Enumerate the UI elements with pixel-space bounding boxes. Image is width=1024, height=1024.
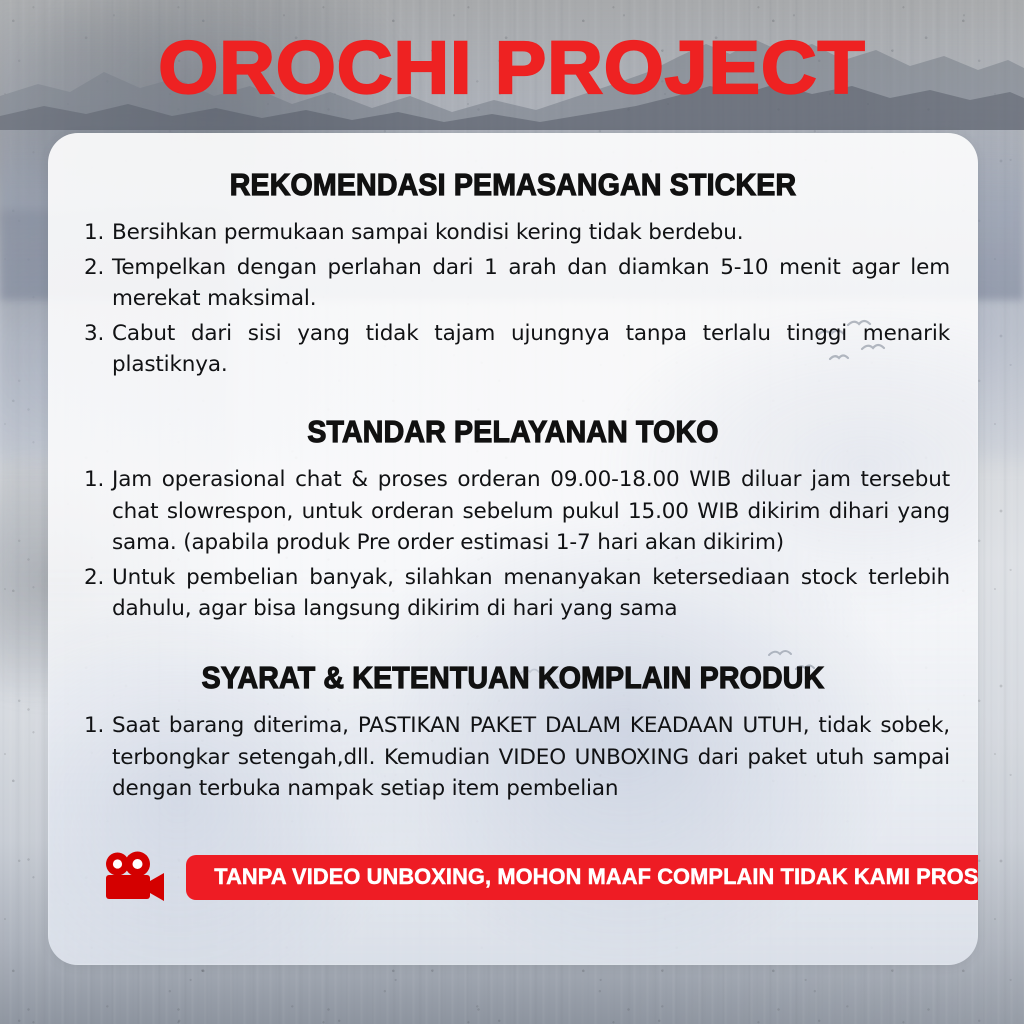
list-item: Cabut dari sisi yang tidak tajam ujungny… [76, 318, 950, 381]
section-gap [76, 384, 950, 414]
section-list: Saat barang diterima, PASTIKAN PAKET DAL… [76, 710, 950, 805]
section-standar-pelayanan-toko: STANDAR PELAYANAN TOKO Jam operasional c… [76, 414, 950, 625]
banner-text: TANPA VIDEO UNBOXING, MOHON MAAF COMPLAI… [214, 864, 978, 890]
section-heading: SYARAT & KETENTUAN KOMPLAIN PRODUK [111, 660, 915, 696]
list-item: Saat barang diterima, PASTIKAN PAKET DAL… [76, 710, 950, 805]
banner-pill: TANPA VIDEO UNBOXING, MOHON MAAF COMPLAI… [186, 855, 978, 900]
info-card: REKOMENDASI PEMASANGAN STICKER Bersihkan… [48, 133, 978, 965]
page-title: OROCHI PROJECT [158, 34, 865, 102]
section-heading: STANDAR PELAYANAN TOKO [111, 414, 915, 450]
list-item: Untuk pembelian banyak, silahkan menanya… [76, 562, 950, 625]
list-item: Jam operasional chat & proses orderan 09… [76, 464, 950, 559]
section-gap [76, 628, 950, 660]
section-list: Jam operasional chat & proses orderan 09… [76, 464, 950, 625]
card-content: REKOMENDASI PEMASANGAN STICKER Bersihkan… [48, 133, 978, 805]
section-list: Bersihkan permukaan sampai kondisi kerin… [76, 217, 950, 381]
page-title-wrapper: OROCHI PROJECT [0, 34, 1024, 102]
section-rekomendasi-pemasangan-sticker: REKOMENDASI PEMASANGAN STICKER Bersihkan… [76, 167, 950, 381]
list-item: Tempelkan dengan perlahan dari 1 arah da… [76, 252, 950, 315]
unboxing-warning-banner: TANPA VIDEO UNBOXING, MOHON MAAF COMPLAI… [104, 851, 928, 903]
list-item: Bersihkan permukaan sampai kondisi kerin… [76, 217, 950, 249]
section-heading: REKOMENDASI PEMASANGAN STICKER [111, 167, 915, 203]
video-camera-icon [104, 851, 166, 903]
section-syarat-ketentuan-komplain-produk: SYARAT & KETENTUAN KOMPLAIN PRODUK Saat … [76, 660, 950, 805]
